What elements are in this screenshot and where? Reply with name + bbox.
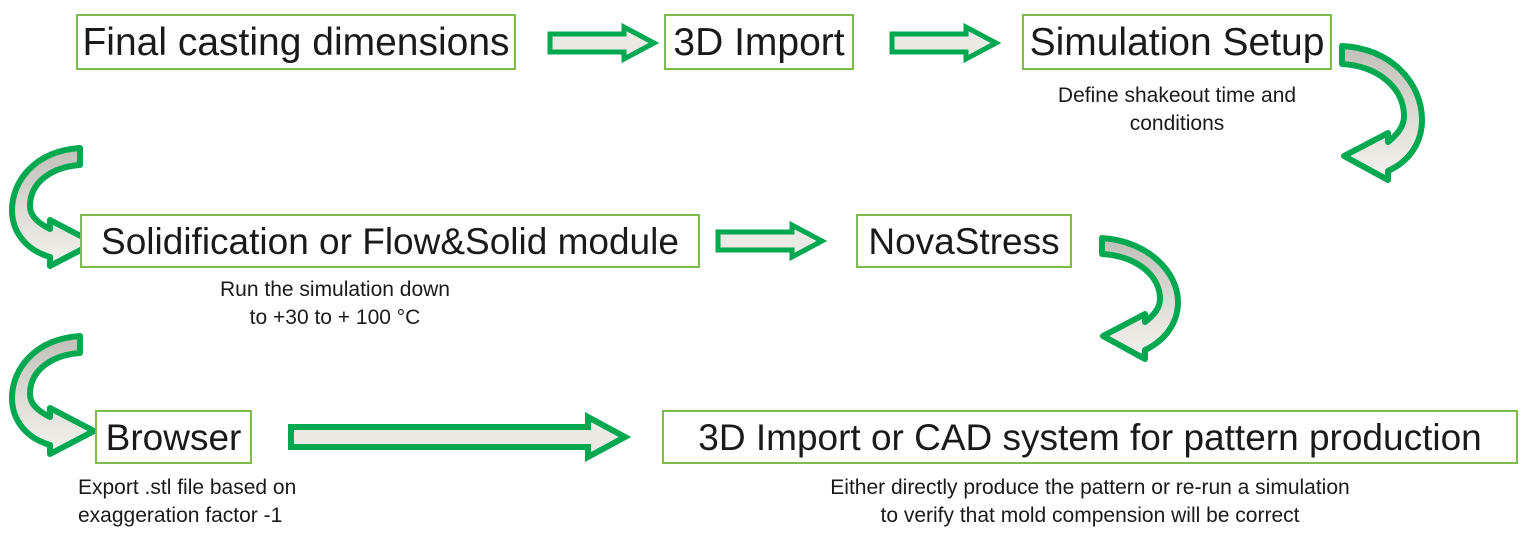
node-label: 3D Import or CAD system for pattern prod… xyxy=(698,419,1481,456)
arrow-solidification-to-novastress xyxy=(716,223,824,259)
node-label: Solidification or Flow&Solid module xyxy=(101,223,679,260)
arrow-setup-to-solidification xyxy=(1328,38,1430,182)
node-simulation-setup[interactable]: Simulation Setup xyxy=(1022,14,1332,70)
arrow-browser-to-cad xyxy=(288,414,628,460)
arrow-row3-entry xyxy=(6,328,108,456)
node-label: 3D Import xyxy=(673,23,844,62)
node-label: NovaStress xyxy=(868,223,1059,260)
node-final-casting-dimensions[interactable]: Final casting dimensions xyxy=(76,14,516,70)
node-label: Simulation Setup xyxy=(1030,23,1325,62)
caption-browser-note: Export .stl file based on exaggeration f… xyxy=(78,474,408,529)
arrow-novastress-to-browser xyxy=(1090,230,1192,362)
node-solidification-module[interactable]: Solidification or Flow&Solid module xyxy=(80,214,700,268)
arrow-final-to-3dimport xyxy=(548,25,656,61)
node-label: Browser xyxy=(106,419,242,456)
caption-cad-note: Either directly produce the pattern or r… xyxy=(662,474,1518,529)
caption-simulation-setup-note: Define shakeout time and conditions xyxy=(1022,82,1332,137)
node-browser[interactable]: Browser xyxy=(95,410,252,464)
arrow-3dimport-to-setup xyxy=(890,25,998,61)
caption-solidification-note: Run the simulation down to +30 to + 100 … xyxy=(175,276,495,331)
flowchart-canvas: Final casting dimensions 3D Import Simul… xyxy=(0,0,1527,546)
node-novastress[interactable]: NovaStress xyxy=(856,214,1072,268)
node-cad-pattern-production[interactable]: 3D Import or CAD system for pattern prod… xyxy=(662,410,1518,464)
node-3d-import[interactable]: 3D Import xyxy=(664,14,854,70)
node-label: Final casting dimensions xyxy=(82,23,509,62)
